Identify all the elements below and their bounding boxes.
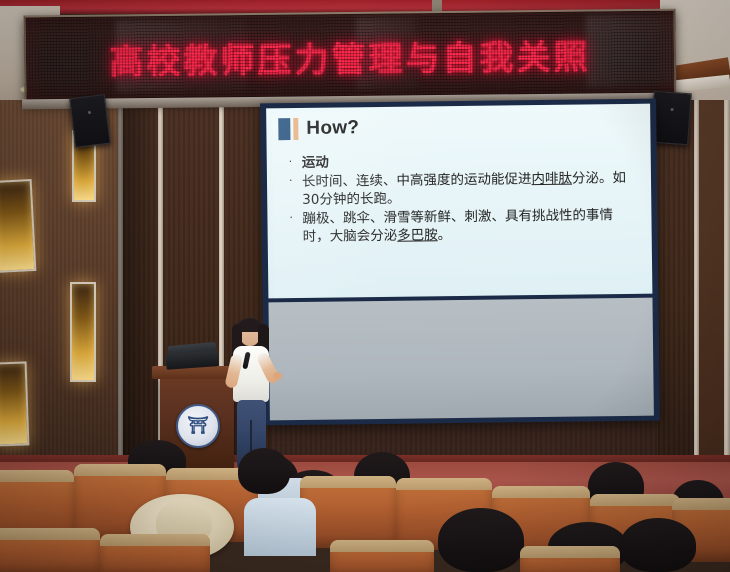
auditorium-seat bbox=[520, 546, 620, 572]
projection-screen: How? · 运动 · 长时间、连续、中高强度的运动能促进内啡肽分泌。如30分钟… bbox=[260, 99, 660, 426]
wall-slot-light bbox=[70, 282, 96, 382]
slide-title: How? bbox=[306, 117, 359, 140]
auditorium-seat bbox=[100, 534, 210, 572]
audience-head bbox=[238, 448, 290, 494]
wall-trim bbox=[724, 100, 730, 480]
slide-bullet-text-underlined: 内啡肽 bbox=[531, 171, 572, 187]
slide-accent-blue-block bbox=[278, 118, 290, 140]
wall-slot-light bbox=[0, 179, 36, 273]
bullet-marker: · bbox=[289, 211, 302, 226]
lecture-hall-photo: 高校教师压力管理与自我关照 How? · 运动 · 长时间、连续、中高强度的运动… bbox=[0, 0, 730, 572]
slide-bullet-text-after: 。 bbox=[438, 227, 452, 243]
presentation-slide: How? · 运动 · 长时间、连续、中高强度的运动能促进内啡肽分泌。如30分钟… bbox=[266, 104, 652, 299]
auditorium-seat bbox=[330, 540, 434, 572]
slide-bullet-item: · 蹦极、跳伞、滑雪等新鲜、刺激、具有挑战性的事情时，大脑会分泌多巴胺。 bbox=[289, 207, 635, 247]
wall-slot-light bbox=[0, 361, 29, 446]
presenter-hand-right bbox=[273, 372, 282, 380]
led-banner: 高校教师压力管理与自我关照 bbox=[24, 9, 677, 105]
wall-shadow bbox=[118, 100, 164, 480]
slide-bullet-text: 长时间、连续、中高强度的运动能促进内啡肽分泌。如30分钟的长跑。 bbox=[302, 170, 635, 210]
audience-head bbox=[620, 518, 696, 572]
slide-bullet-text-before: 长时间、连续、中高强度的运动能促进 bbox=[302, 171, 532, 190]
slide-bullet-text: 蹦极、跳伞、滑雪等新鲜、刺激、具有挑战性的事情时，大脑会分泌多巴胺。 bbox=[302, 207, 635, 247]
bullet-marker: · bbox=[289, 174, 302, 189]
audience-head bbox=[438, 508, 524, 572]
emblem-glyph: ⛩ bbox=[187, 416, 209, 436]
wall-trim bbox=[694, 100, 699, 480]
audience-person-shoulders bbox=[244, 498, 316, 556]
slide-accent-orange-bar bbox=[293, 118, 298, 140]
slide-bullet-item: · 长时间、连续、中高强度的运动能促进内啡肽分泌。如30分钟的长跑。 bbox=[289, 170, 635, 210]
led-banner-text: 高校教师压力管理与自我关照 bbox=[26, 29, 674, 85]
slide-bullet-text-before: 蹦极、跳伞、滑雪等新鲜、刺激、具有挑战性的事情时，大脑会分泌 bbox=[302, 207, 613, 245]
podium-emblem: ⛩ bbox=[176, 404, 220, 448]
slide-bullet-text-underlined: 多巴胺 bbox=[397, 227, 438, 243]
ceiling-speaker-icon bbox=[69, 94, 111, 148]
auditorium-seat bbox=[0, 528, 100, 572]
wall-column-right bbox=[658, 100, 698, 480]
slide-body: · 运动 · 长时间、连续、中高强度的运动能促进内啡肽分泌。如30分钟的长跑。 … bbox=[289, 151, 636, 248]
screen-blank-area bbox=[268, 298, 653, 421]
bullet-marker: · bbox=[289, 155, 302, 170]
slide-title-row: How? bbox=[278, 117, 359, 140]
